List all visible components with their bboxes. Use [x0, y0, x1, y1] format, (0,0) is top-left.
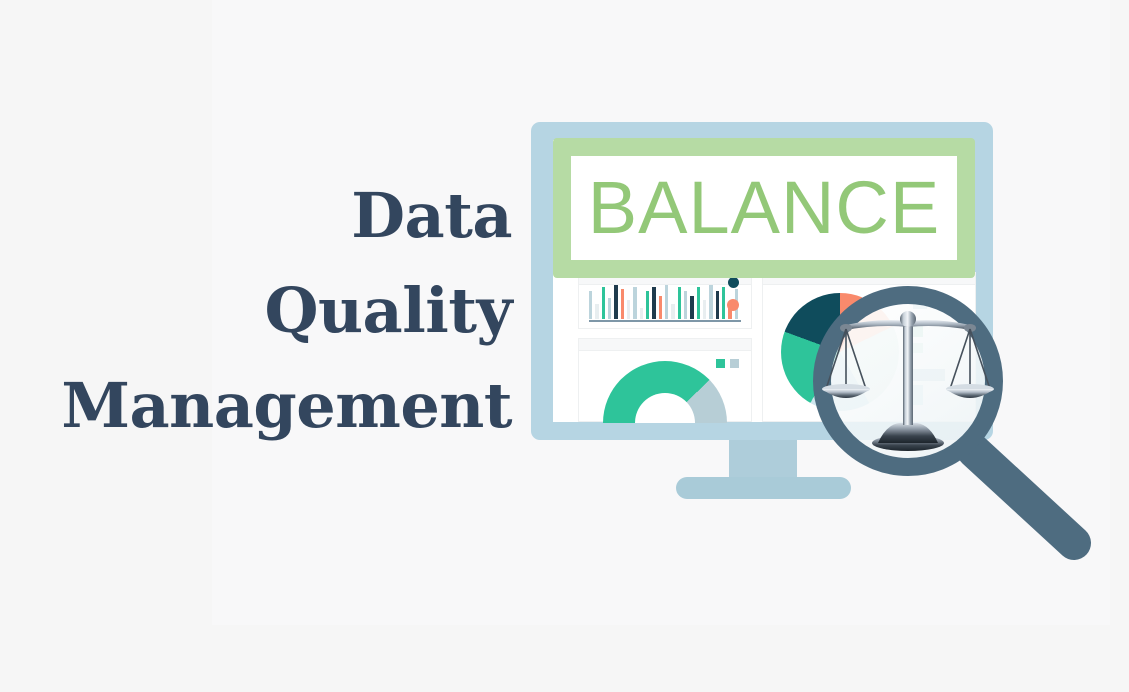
magnifier-glass-shape — [812, 285, 1112, 560]
bar — [659, 296, 662, 319]
status-dot-coral-icon — [727, 299, 739, 311]
balance-banner: BALANCE — [553, 138, 975, 278]
bar-chart-axis — [589, 320, 741, 322]
bar — [614, 285, 617, 319]
bar — [671, 304, 674, 319]
bar — [709, 285, 712, 319]
bar — [621, 289, 624, 319]
bar — [652, 287, 655, 319]
bar — [722, 287, 725, 319]
illustration-stage: Data Quality Management — [0, 0, 1129, 692]
bar — [697, 287, 700, 319]
bar — [595, 304, 598, 319]
card-header-strip — [579, 339, 751, 351]
page-title-line-3: Management — [20, 358, 512, 453]
balance-banner-text: BALANCE — [588, 171, 940, 245]
bar — [608, 298, 611, 319]
balance-banner-inner: BALANCE — [571, 156, 957, 260]
page-title-line-2: Quality — [20, 263, 512, 358]
bar — [690, 296, 693, 319]
magnifier-icon — [812, 285, 1112, 560]
bar — [684, 291, 687, 319]
bar-chart — [589, 285, 741, 319]
bar — [716, 291, 719, 319]
bar — [633, 287, 636, 319]
scales-top-knob — [900, 311, 916, 327]
bar — [665, 285, 668, 319]
gauge-card — [578, 338, 752, 422]
scales-post — [903, 325, 913, 425]
bar-chart-card — [578, 272, 752, 329]
bar — [646, 291, 649, 319]
bar — [678, 287, 681, 319]
gauge-legend-swatch-1 — [716, 359, 725, 368]
gauge-legend-swatch-2 — [730, 359, 739, 368]
status-dot-dark-icon — [728, 277, 739, 288]
magnifier-handle — [974, 451, 1074, 543]
bar — [627, 300, 630, 319]
page-title: Data Quality Management — [20, 168, 512, 453]
gauge-chart — [603, 361, 727, 423]
bar — [602, 287, 605, 319]
page-title-line-1: Data — [20, 168, 512, 263]
bar — [589, 291, 592, 319]
bar — [640, 308, 643, 319]
bar — [703, 300, 706, 319]
